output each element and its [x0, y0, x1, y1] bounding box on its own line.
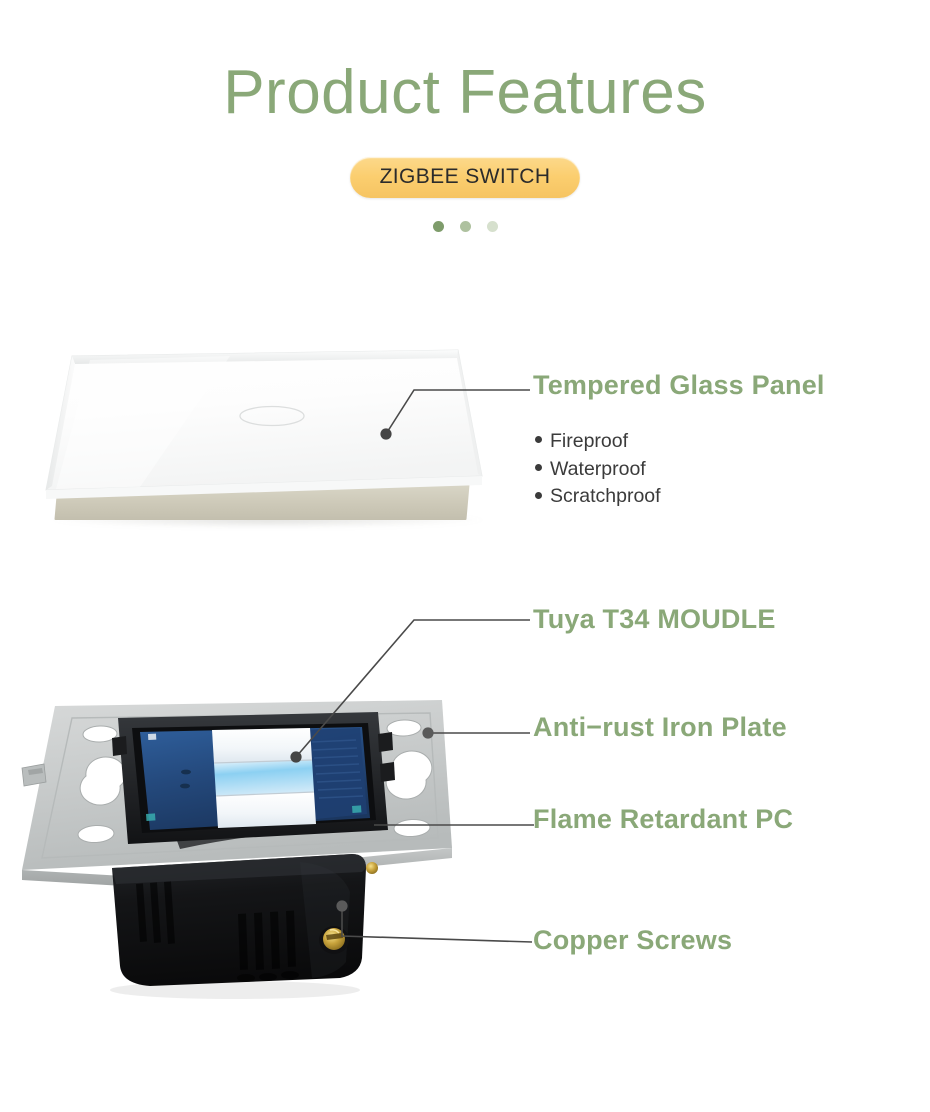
callout-title-tempered-glass-panel: Tempered Glass Panel [533, 370, 825, 401]
header: Product Features ZIGBEE SWITCH [0, 0, 930, 250]
copper-screw-shape [319, 926, 349, 954]
bullet-marker-icon [535, 436, 542, 443]
callout-bullets-tempered-glass-panel: Fireproof Waterproof Scratchproof [535, 428, 661, 511]
switch-assembly-product-image [0, 672, 470, 1002]
glass-panel-surface [30, 344, 500, 504]
callout-title-flame-retardant-pc: Flame Retardant PC [533, 804, 793, 835]
bullet-label: Waterproof [550, 458, 646, 480]
bullet-label: Fireproof [550, 430, 628, 452]
copper-screw-secondary-shape [366, 862, 378, 874]
carousel-dot-3[interactable] [487, 221, 498, 232]
badge-container: ZIGBEE SWITCH [0, 157, 930, 198]
page-title: Product Features [0, 60, 930, 125]
bullet-marker-icon [535, 464, 542, 471]
bullet-item: Fireproof [535, 428, 661, 456]
carousel-dot-2[interactable] [460, 221, 471, 232]
bullet-label: Scratchproof [550, 485, 661, 507]
status-badge: ZIGBEE SWITCH [350, 157, 581, 198]
tuya-module-pcb [140, 727, 370, 830]
carousel-dots[interactable] [0, 221, 930, 232]
bullet-item: Waterproof [535, 456, 661, 484]
callout-title-anti-rust-iron-plate: Anti−rust Iron Plate [533, 712, 787, 743]
flame-retardant-pc-housing [112, 854, 366, 986]
callout-title-tuya-t34-moudle: Tuya T34 MOUDLE [533, 604, 776, 635]
glass-panel-product-image [30, 344, 500, 544]
callout-title-copper-screws: Copper Screws [533, 925, 732, 956]
bullet-item: Scratchproof [535, 483, 661, 511]
bullet-marker-icon [535, 492, 542, 499]
carousel-dot-1[interactable] [433, 221, 444, 232]
